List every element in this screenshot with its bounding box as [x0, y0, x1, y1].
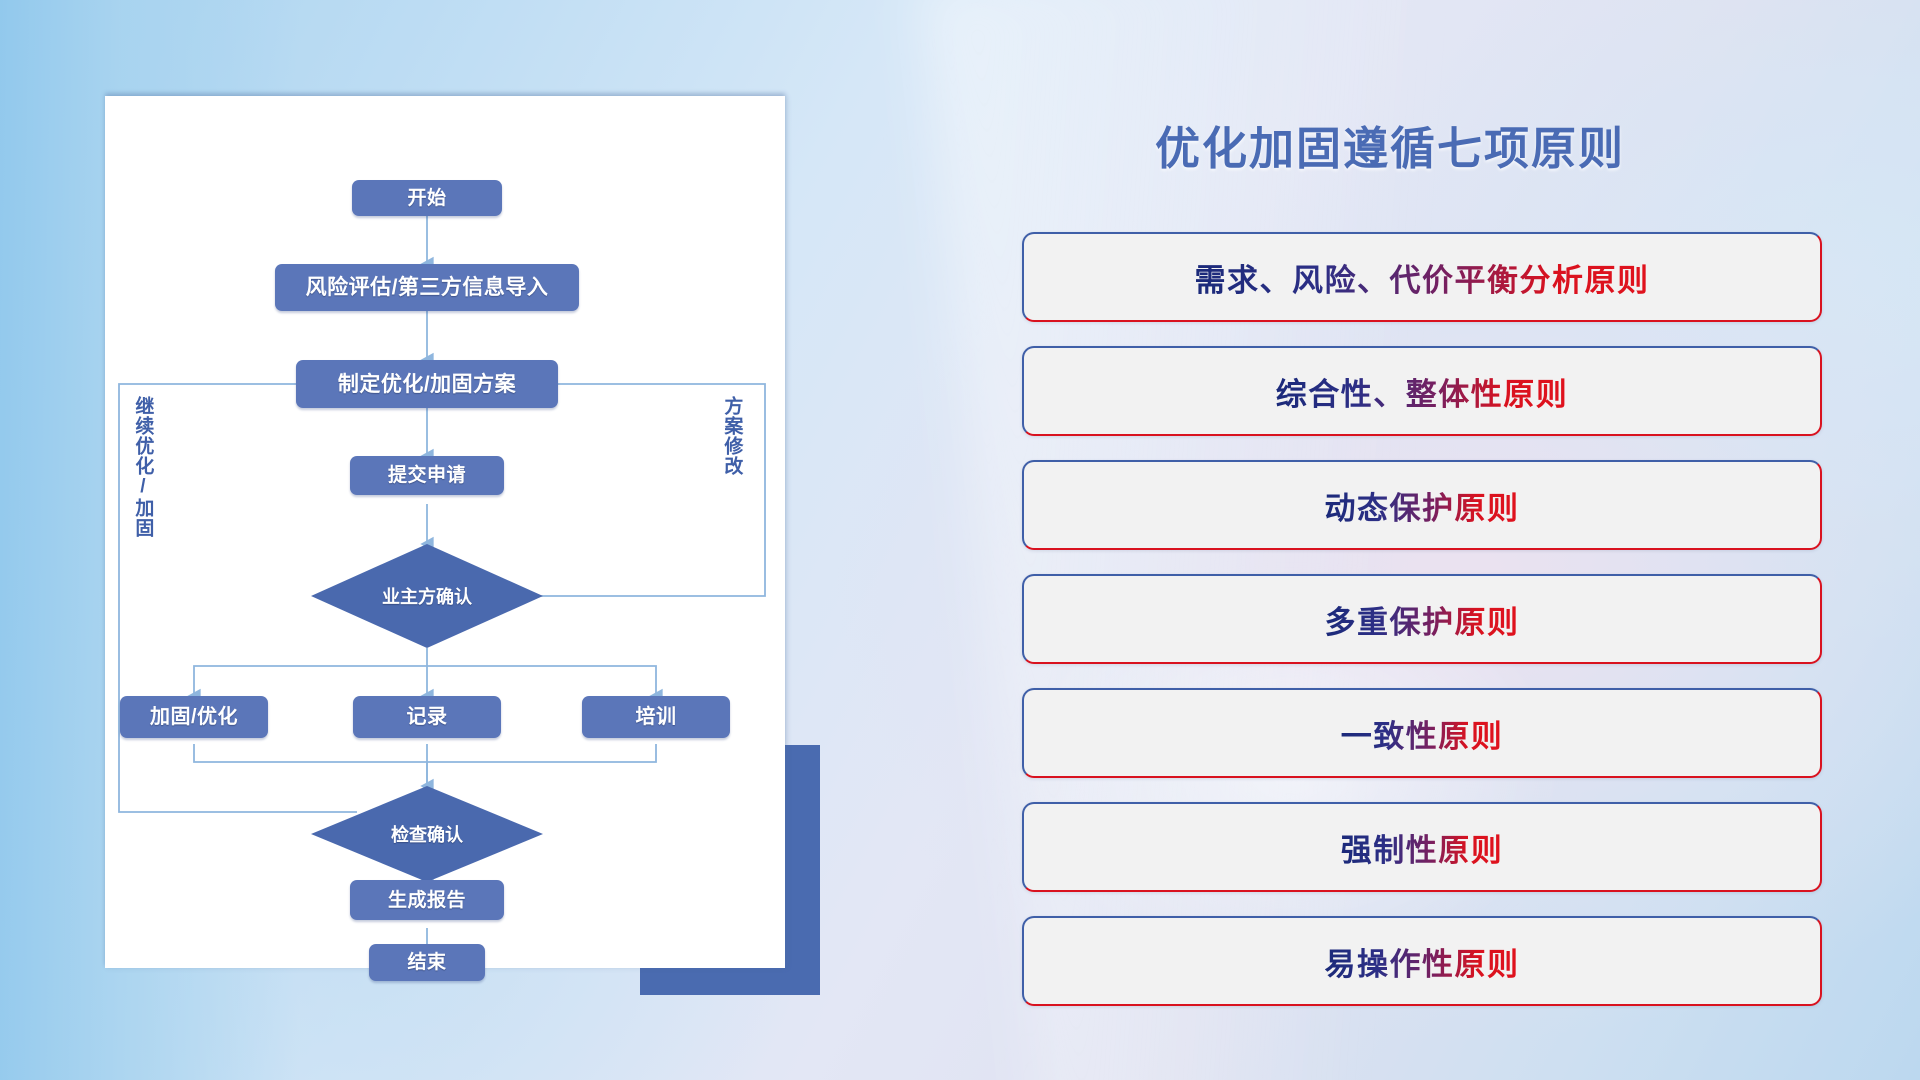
principle-card-7[interactable]: 易操作性原则 — [1022, 916, 1822, 1006]
principle-card-4-label: 多重保护原则 — [1325, 597, 1520, 642]
principle-card-6[interactable]: 强制性原则 — [1022, 802, 1822, 892]
principle-card-5-label: 一致性原则 — [1341, 711, 1504, 756]
principle-card-7-label: 易操作性原则 — [1325, 939, 1520, 984]
flow-node-generate-report[interactable]: 生成报告 — [350, 880, 504, 920]
flow-edge-label-left-loop: 继续优化/加固 — [133, 396, 152, 538]
flow-node-owner-confirmation-label: 业主方确认 — [382, 583, 472, 609]
flow-edge-label-right-loop: 方案修改 — [722, 396, 741, 476]
flow-node-risk-assessment[interactable]: 风险评估/第三方信息导入 — [275, 264, 579, 311]
principle-card-1[interactable]: 需求、风险、代价平衡分析原则 — [1022, 232, 1822, 322]
principle-card-2[interactable]: 综合性、整体性原则 — [1022, 346, 1822, 436]
principle-card-3-label: 动态保护原则 — [1325, 483, 1520, 528]
flow-node-reinforce[interactable]: 加固/优化 — [120, 696, 268, 738]
principle-card-2-label: 综合性、整体性原则 — [1276, 369, 1569, 414]
principles-panel-title: 优化加固遵循七项原则 — [1155, 112, 1795, 177]
principle-card-6-label: 强制性原则 — [1341, 825, 1504, 870]
flow-node-inspection-confirmation[interactable]: 检查确认 — [311, 786, 543, 882]
flow-node-owner-confirmation[interactable]: 业主方确认 — [311, 544, 543, 648]
principle-card-3[interactable]: 动态保护原则 — [1022, 460, 1822, 550]
flow-node-plan[interactable]: 制定优化/加固方案 — [296, 360, 558, 408]
flowchart-card: 开始 风险评估/第三方信息导入 制定优化/加固方案 提交申请 业主方确认 加固/… — [105, 96, 785, 968]
principle-card-5[interactable]: 一致性原则 — [1022, 688, 1822, 778]
flow-node-inspection-confirmation-label: 检查确认 — [391, 821, 463, 847]
slide-canvas: 开始 风险评估/第三方信息导入 制定优化/加固方案 提交申请 业主方确认 加固/… — [0, 0, 1920, 1080]
principle-card-4[interactable]: 多重保护原则 — [1022, 574, 1822, 664]
flow-node-end[interactable]: 结束 — [369, 944, 485, 981]
flow-node-submit-application[interactable]: 提交申请 — [350, 456, 504, 495]
flow-node-start[interactable]: 开始 — [352, 180, 502, 216]
flow-node-training[interactable]: 培训 — [582, 696, 730, 738]
flow-node-record[interactable]: 记录 — [353, 696, 501, 738]
principle-card-1-label: 需求、风险、代价平衡分析原则 — [1195, 255, 1650, 300]
principles-card-list: 需求、风险、代价平衡分析原则 综合性、整体性原则 动态保护原则 多重保护原则 一… — [1022, 232, 1822, 1030]
